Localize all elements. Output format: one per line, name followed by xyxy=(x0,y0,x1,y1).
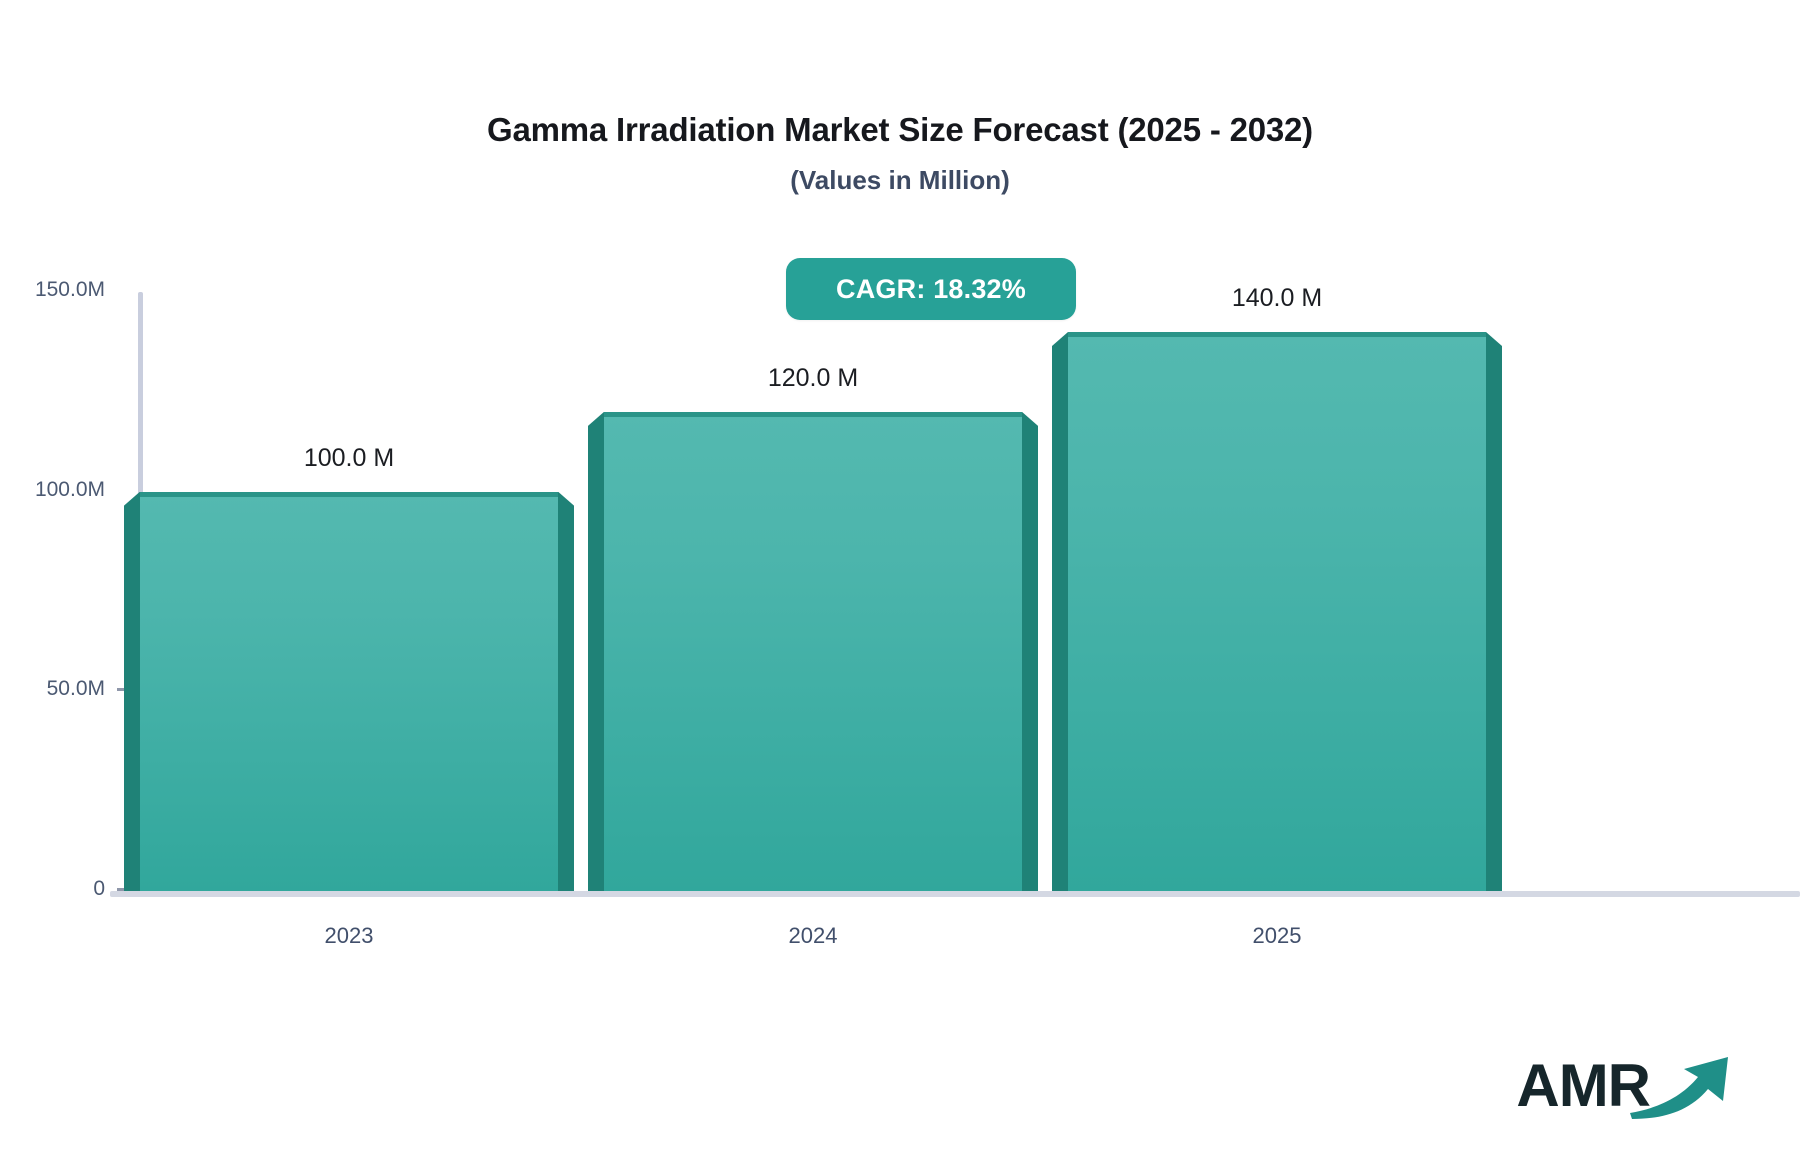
bar-side-right xyxy=(558,492,574,891)
bar-value-label: 100.0 M xyxy=(140,444,558,473)
bar-side-left xyxy=(1052,332,1068,891)
bar-top-edge xyxy=(140,492,558,497)
bar-side-left xyxy=(124,492,140,891)
bar xyxy=(1068,332,1486,891)
x-axis-category-label: 2025 xyxy=(1068,923,1486,949)
bars-layer: 100.0 M2023120.0 M2024140.0 M2025 xyxy=(0,0,1800,1156)
bar-group: 140.0 M2025 xyxy=(1068,332,1486,891)
bar-face xyxy=(604,412,1022,891)
bar-side-right xyxy=(1022,412,1038,891)
x-axis-category-label: 2023 xyxy=(140,923,558,949)
bar-value-label: 140.0 M xyxy=(1068,284,1486,313)
plot-area: 150.0M100.0M50.0M0 100.0 M2023120.0 M202… xyxy=(0,0,1800,1156)
bar-group: 100.0 M2023 xyxy=(140,492,558,891)
cagr-badge: CAGR: 18.32% xyxy=(786,258,1076,320)
bar-face xyxy=(1068,332,1486,891)
cagr-badge-label: CAGR: 18.32% xyxy=(836,274,1026,305)
amr-logo: AMR xyxy=(1516,1049,1740,1122)
bar-top-edge xyxy=(604,412,1022,417)
bar-side-right xyxy=(1486,332,1502,891)
bar xyxy=(604,412,1022,891)
bar-side-left xyxy=(588,412,604,891)
bar-top-edge xyxy=(1068,332,1486,337)
bar-group: 120.0 M2024 xyxy=(604,412,1022,891)
trending-up-arrow-icon xyxy=(1624,1049,1740,1126)
bar-value-label: 120.0 M xyxy=(604,364,1022,393)
bar-face xyxy=(140,492,558,891)
x-axis-category-label: 2024 xyxy=(604,923,1022,949)
bar xyxy=(140,492,558,891)
